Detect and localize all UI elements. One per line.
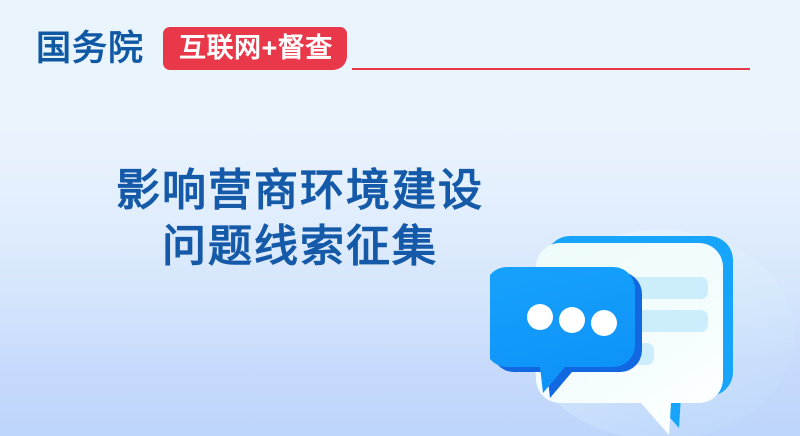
chat-bubbles-illustration: [490, 215, 800, 436]
small-bubble-dot: [559, 307, 585, 333]
header-divider-line: [352, 68, 750, 70]
internet-plus-supervision-badge: 互联网+督查: [163, 27, 347, 70]
page-title-line-1: 影响营商环境建设: [40, 163, 560, 219]
small-bubble-dot: [591, 310, 617, 336]
badge-label: 互联网+督查: [179, 35, 333, 62]
state-council-logo: 国务院: [36, 27, 144, 70]
banner-root: 国务院 互联网+督查 影响营商环境建设 问题线索征集: [0, 0, 800, 436]
page-title-line-2: 问题线索征集: [40, 219, 560, 275]
small-bubble-dot: [527, 304, 553, 330]
page-title: 影响营商环境建设 问题线索征集: [40, 163, 560, 275]
banner-header: 国务院 互联网+督查: [0, 0, 800, 90]
